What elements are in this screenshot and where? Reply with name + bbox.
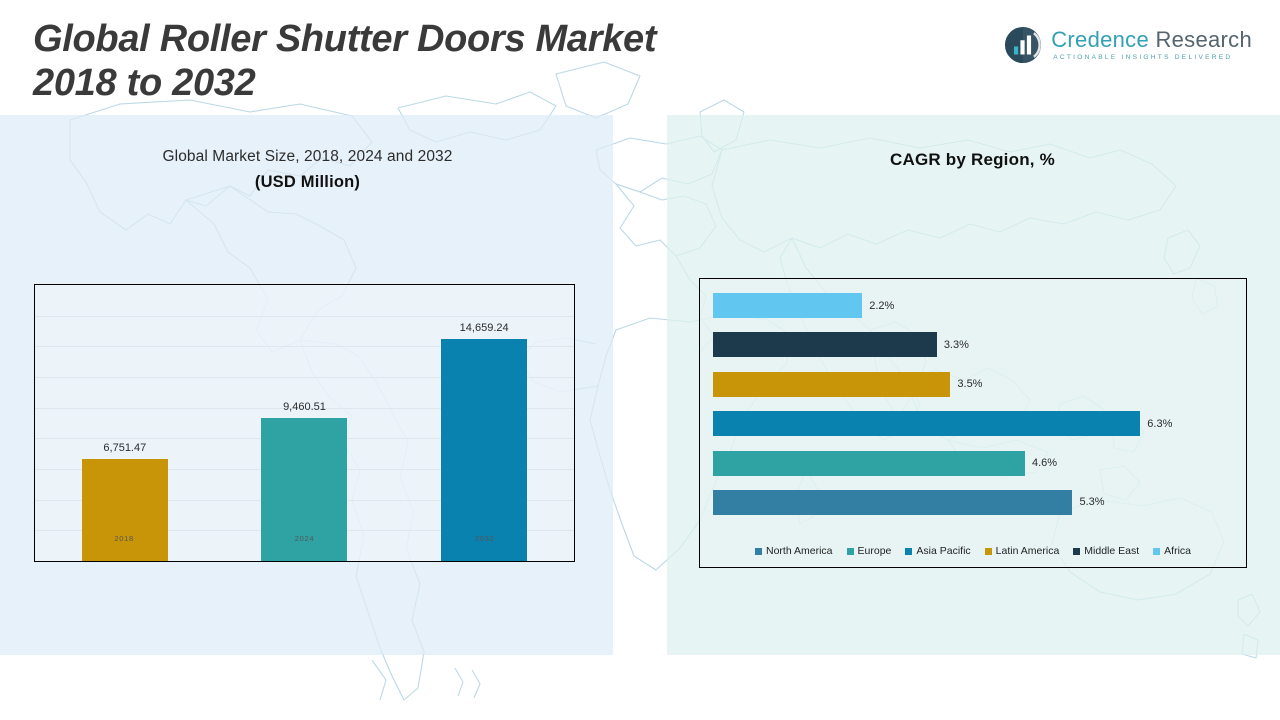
cagr-row-africa: 2.2%: [713, 293, 1236, 318]
bar-value-label: 6,751.47: [103, 442, 146, 454]
x-axis-label-2024: 2024: [218, 534, 391, 543]
bar-value-label: 14,659.24: [460, 322, 509, 334]
cagr-row-latin-america: 3.5%: [713, 372, 1236, 397]
cagr-row-north-america: 5.3%: [713, 490, 1236, 515]
logo-tagline: Actionable Insights Delivered: [1053, 55, 1252, 62]
legend-swatch-icon: [1153, 548, 1160, 555]
x-axis-label-2032: 2032: [398, 534, 571, 543]
cagr-by-region-bar-chart: 2.2%3.3%3.5%6.3%4.6%5.3% North AmericaEu…: [699, 278, 1247, 568]
page-title: Global Roller Shutter Doors Market 2018 …: [33, 17, 656, 105]
logo-name-first: Credence: [1051, 27, 1149, 52]
x-axis-label-2018: 2018: [38, 534, 211, 543]
right-chart-title-text: CAGR by Region, %: [700, 150, 1245, 170]
right-chart-title: CAGR by Region, %: [700, 150, 1245, 170]
legend-item-asia-pacific[interactable]: Asia Pacific: [905, 545, 970, 557]
legend-item-latin-america[interactable]: Latin America: [985, 545, 1060, 557]
bar-value-label: 3.3%: [944, 339, 969, 351]
legend-swatch-icon: [847, 548, 854, 555]
legend-label: Europe: [858, 545, 892, 557]
legend-swatch-icon: [905, 548, 912, 555]
cagr-row-europe: 4.6%: [713, 451, 1236, 476]
cagr-row-middle-east: 3.3%: [713, 332, 1236, 357]
logo-name: Credence Research: [1051, 29, 1252, 51]
bar-value-label: 9,460.51: [283, 401, 326, 413]
bar-column: 14,659.24: [398, 285, 570, 561]
legend-label: Middle East: [1084, 545, 1139, 557]
bar-north-america: [713, 490, 1072, 515]
bar-value-label: 6.3%: [1147, 418, 1172, 430]
cagr-legend: North AmericaEuropeAsia PacificLatin Ame…: [700, 545, 1246, 557]
legend-item-north-america[interactable]: North America: [755, 545, 833, 557]
legend-item-middle-east[interactable]: Middle East: [1073, 545, 1139, 557]
bar-value-label: 5.3%: [1079, 496, 1104, 508]
legend-item-africa[interactable]: Africa: [1153, 545, 1191, 557]
bar-middle-east: [713, 332, 937, 357]
bar-value-label: 2.2%: [869, 300, 894, 312]
bar-asia-pacific: [713, 411, 1140, 436]
left-chart-title: Global Market Size, 2018, 2024 and 2032 …: [90, 148, 525, 192]
legend-swatch-icon: [755, 548, 762, 555]
bar-value-label: 3.5%: [957, 378, 982, 390]
bar-column: 6,751.47: [39, 285, 211, 561]
chart-plot-area: 6,751.479,460.5114,659.24: [35, 285, 574, 561]
left-chart-title-line1: Global Market Size, 2018, 2024 and 2032: [90, 148, 525, 166]
bar-value-label: 4.6%: [1032, 457, 1057, 469]
legend-label: Latin America: [996, 545, 1060, 557]
bar-africa: [713, 293, 862, 318]
credence-research-logo: Credence Research Actionable Insights De…: [1004, 26, 1252, 64]
logo-name-second: Research: [1155, 27, 1252, 52]
left-chart-title-line2: (USD Million): [90, 173, 525, 192]
market-size-x-axis: 201820242032: [34, 534, 575, 560]
cagr-plot-area: 2.2%3.3%3.5%6.3%4.6%5.3%: [713, 293, 1236, 515]
legend-label: Africa: [1164, 545, 1191, 557]
bar-latin-america: [713, 372, 950, 397]
bar-chart-circle-icon: [1004, 26, 1042, 64]
bar-europe: [713, 451, 1025, 476]
bar-column: 9,460.51: [218, 285, 390, 561]
bar-2032: [441, 339, 527, 561]
header: Global Roller Shutter Doors Market 2018 …: [0, 0, 1280, 115]
market-size-bar-chart: 6,751.479,460.5114,659.24: [34, 284, 575, 562]
legend-item-europe[interactable]: Europe: [847, 545, 892, 557]
cagr-row-asia-pacific: 6.3%: [713, 411, 1236, 436]
legend-swatch-icon: [1073, 548, 1080, 555]
legend-swatch-icon: [985, 548, 992, 555]
legend-label: North America: [766, 545, 833, 557]
legend-label: Asia Pacific: [916, 545, 970, 557]
